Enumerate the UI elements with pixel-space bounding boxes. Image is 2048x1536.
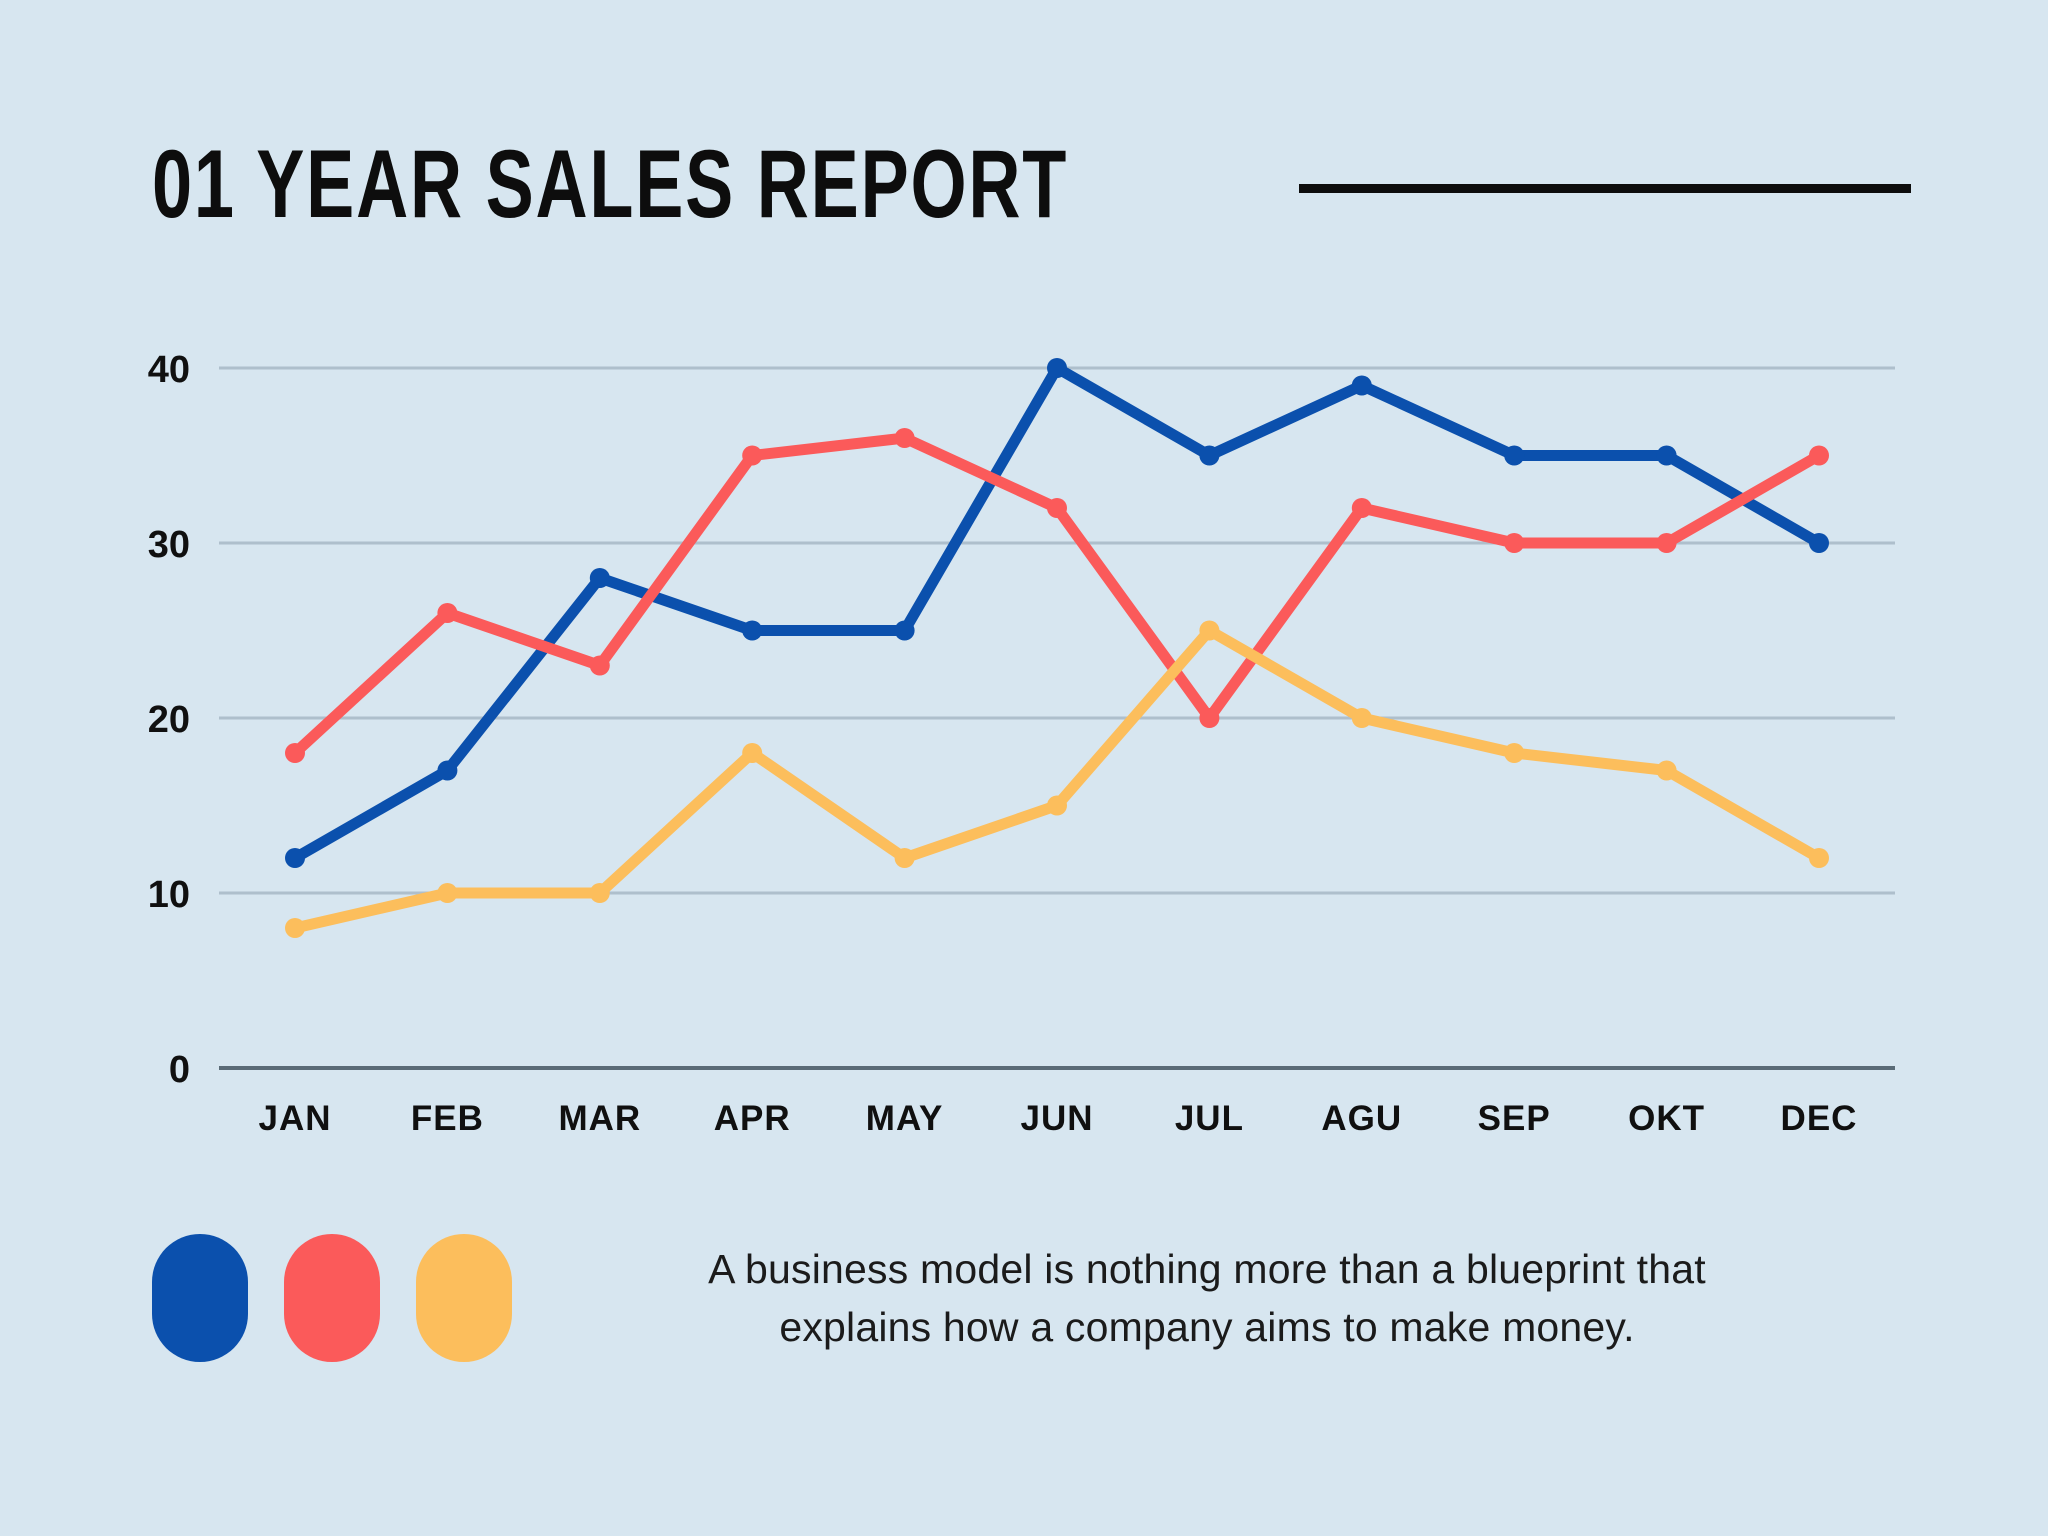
- caption-line-1: A business model is nothing more than a …: [642, 1240, 1772, 1298]
- series-line: [295, 631, 1819, 929]
- y-axis-tick-label: 40: [148, 349, 190, 391]
- legend-swatch-series-blue: [152, 1234, 248, 1362]
- x-axis-tick-label: JAN: [258, 1099, 331, 1138]
- legend-swatches: [152, 1234, 512, 1362]
- y-axis-tick-label: 10: [148, 874, 190, 916]
- y-axis-tick-label: 0: [169, 1049, 190, 1091]
- x-axis-tick-label: APR: [714, 1099, 791, 1138]
- series-data-point: [742, 621, 762, 641]
- series-data-point: [437, 761, 457, 781]
- header: 01 YEAR SALES REPORT: [152, 140, 1912, 230]
- series-data-point: [1352, 498, 1372, 518]
- x-axis-tick-label: DEC: [1781, 1099, 1858, 1138]
- series-data-point: [590, 656, 610, 676]
- chart-series-lines: [295, 368, 1819, 928]
- series-data-point: [437, 603, 457, 623]
- series-data-point: [1352, 376, 1372, 396]
- series-data-point: [742, 743, 762, 763]
- series-data-point: [1657, 446, 1677, 466]
- x-axis-tick-label: JUN: [1020, 1099, 1093, 1138]
- series-data-point: [895, 621, 915, 641]
- series-data-point: [1657, 533, 1677, 553]
- series-data-point: [1199, 446, 1219, 466]
- x-axis-tick-label: OKT: [1628, 1099, 1705, 1138]
- caption-text: A business model is nothing more than a …: [642, 1240, 1772, 1356]
- series-data-point: [1809, 446, 1829, 466]
- chart-gridlines: [219, 368, 1895, 893]
- x-axis-tick-label: AGU: [1321, 1099, 1402, 1138]
- series-data-point: [590, 883, 610, 903]
- series-data-point: [1504, 743, 1524, 763]
- poster-canvas: 01 YEAR SALES REPORT 010203040 JANFEBMAR…: [0, 0, 2048, 1536]
- series-data-point: [895, 848, 915, 868]
- chart-legend-footer: A business model is nothing more than a …: [152, 1218, 1932, 1378]
- series-data-point: [437, 883, 457, 903]
- legend-swatch-series-red: [284, 1234, 380, 1362]
- x-axis-tick-label: MAR: [558, 1099, 641, 1138]
- title-rule-divider: [1299, 184, 1911, 193]
- series-data-point: [590, 568, 610, 588]
- series-line: [295, 368, 1819, 858]
- chart-xtick-labels: JANFEBMARAPRMAYJUNJULAGUSEPOKTDEC: [258, 1099, 1857, 1138]
- x-axis-tick-label: SEP: [1478, 1099, 1551, 1138]
- caption-line-2: explains how a company aims to make mone…: [642, 1298, 1772, 1356]
- y-axis-tick-label: 20: [148, 699, 190, 741]
- x-axis-tick-label: FEB: [411, 1099, 484, 1138]
- series-data-point: [1047, 358, 1067, 378]
- series-data-point: [1809, 533, 1829, 553]
- series-data-point: [1504, 446, 1524, 466]
- series-data-point: [1352, 708, 1372, 728]
- chart-ytick-labels: 010203040: [148, 349, 190, 1091]
- x-axis-tick-label: MAY: [866, 1099, 944, 1138]
- series-data-point: [285, 743, 305, 763]
- series-data-point: [1199, 621, 1219, 641]
- series-data-point: [285, 918, 305, 938]
- chart-series-points: [285, 358, 1829, 938]
- series-data-point: [742, 446, 762, 466]
- series-data-point: [1047, 796, 1067, 816]
- series-data-point: [1657, 761, 1677, 781]
- legend-swatch-series-yellow: [416, 1234, 512, 1362]
- series-data-point: [1504, 533, 1524, 553]
- series-data-point: [1199, 708, 1219, 728]
- page-title: 01 YEAR SALES REPORT: [152, 137, 1068, 234]
- y-axis-tick-label: 30: [148, 524, 190, 566]
- series-line: [295, 438, 1819, 753]
- x-axis-tick-label: JUL: [1175, 1099, 1244, 1138]
- series-data-point: [285, 848, 305, 868]
- series-data-point: [1809, 848, 1829, 868]
- series-data-point: [895, 428, 915, 448]
- series-data-point: [1047, 498, 1067, 518]
